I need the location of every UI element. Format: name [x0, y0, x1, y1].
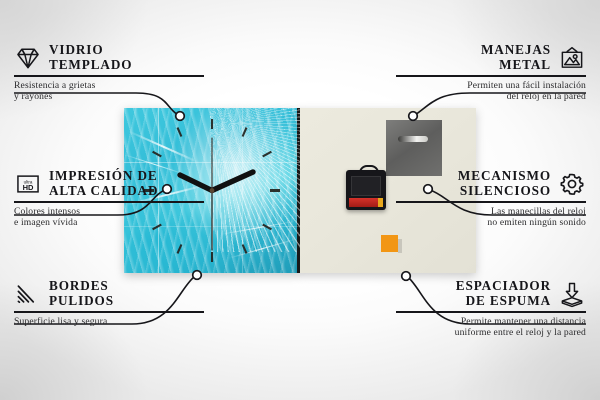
- ultra-hd-icon: ultra HD: [14, 170, 42, 198]
- feature-title-line2: METAL: [481, 57, 551, 72]
- feature-subtitle-line2: y rayones: [14, 91, 204, 102]
- feature-subtitle-line1: Resistencia a grietas: [14, 80, 204, 91]
- feature-title-line2: ALTA CALIDAD: [49, 183, 158, 198]
- feature-title-line2: DE ESPUMA: [456, 293, 551, 308]
- battery: [349, 198, 383, 207]
- infographic-canvas: VIDRIO TEMPLADO Resistencia a grietas y …: [0, 0, 600, 400]
- diamond-icon: [14, 44, 42, 72]
- feature-subtitle-line2: uniforme entre el reloj y la pared: [396, 327, 586, 338]
- feature-title-line1: MANEJAS: [481, 42, 551, 57]
- feature-divider: [396, 75, 586, 77]
- gear-icon: [558, 170, 586, 198]
- feature-subtitle-line1: Permiten una fácil instalación: [396, 80, 586, 91]
- feature-divider: [396, 311, 586, 313]
- foam-spacer: [381, 235, 398, 252]
- feature-subtitle-line2: e imagen vívida: [14, 217, 204, 228]
- feature-subtitle-line1: Las manecillas del reloj: [396, 206, 586, 217]
- feature-mecanismo-silencioso[interactable]: MECANISMO SILENCIOSO Las manecillas del …: [396, 168, 586, 228]
- svg-text:HD: HD: [23, 183, 34, 192]
- feature-title-line2: TEMPLADO: [49, 57, 132, 72]
- feature-impresion-alta-calidad[interactable]: ultra HD IMPRESIÓN DE ALTA CALIDAD Color…: [14, 168, 204, 228]
- picture-frame-hanger-icon: [558, 44, 586, 72]
- feature-title-line2: SILENCIOSO: [458, 183, 551, 198]
- feature-title-line1: VIDRIO: [49, 42, 132, 57]
- diagonal-stripes-icon: [14, 280, 42, 308]
- mechanism-body-detail: [351, 176, 381, 196]
- feature-title-line1: ESPACIADOR: [456, 278, 551, 293]
- feature-divider: [14, 201, 204, 203]
- feature-subtitle-line2: del reloj en la pared: [396, 91, 586, 102]
- feature-title-line1: BORDES: [49, 278, 114, 293]
- feature-subtitle-line1: Colores intensos: [14, 206, 204, 217]
- feature-bordes-pulidos[interactable]: BORDES PULIDOS Superficie lisa y segura: [14, 278, 204, 327]
- hanger-slot: [398, 136, 428, 142]
- arrow-down-pad-icon: [558, 280, 586, 308]
- mechanism-hook: [359, 165, 379, 176]
- feature-title-line1: IMPRESIÓN DE: [49, 168, 158, 183]
- feature-espaciador-espuma[interactable]: ESPACIADOR DE ESPUMA Permite mantener un…: [396, 278, 586, 338]
- feature-subtitle-line2: no emiten ningún sonido: [396, 217, 586, 228]
- feature-divider: [14, 311, 204, 313]
- feature-title-line1: MECANISMO: [458, 168, 551, 183]
- feature-divider: [396, 201, 586, 203]
- feature-vidrio-templado[interactable]: VIDRIO TEMPLADO Resistencia a grietas y …: [14, 42, 204, 102]
- feature-divider: [14, 75, 204, 77]
- feature-title-line2: PULIDOS: [49, 293, 114, 308]
- foam-spacer-shadow: [398, 239, 402, 253]
- battery-terminal: [378, 198, 383, 207]
- feature-subtitle-line1: Superficie lisa y segura: [14, 316, 204, 327]
- feature-manejas-metal[interactable]: MANEJAS METAL Permiten una fácil instala…: [396, 42, 586, 102]
- clock-mechanism: [346, 170, 386, 210]
- feature-subtitle-line1: Permite mantener una distancia: [396, 316, 586, 327]
